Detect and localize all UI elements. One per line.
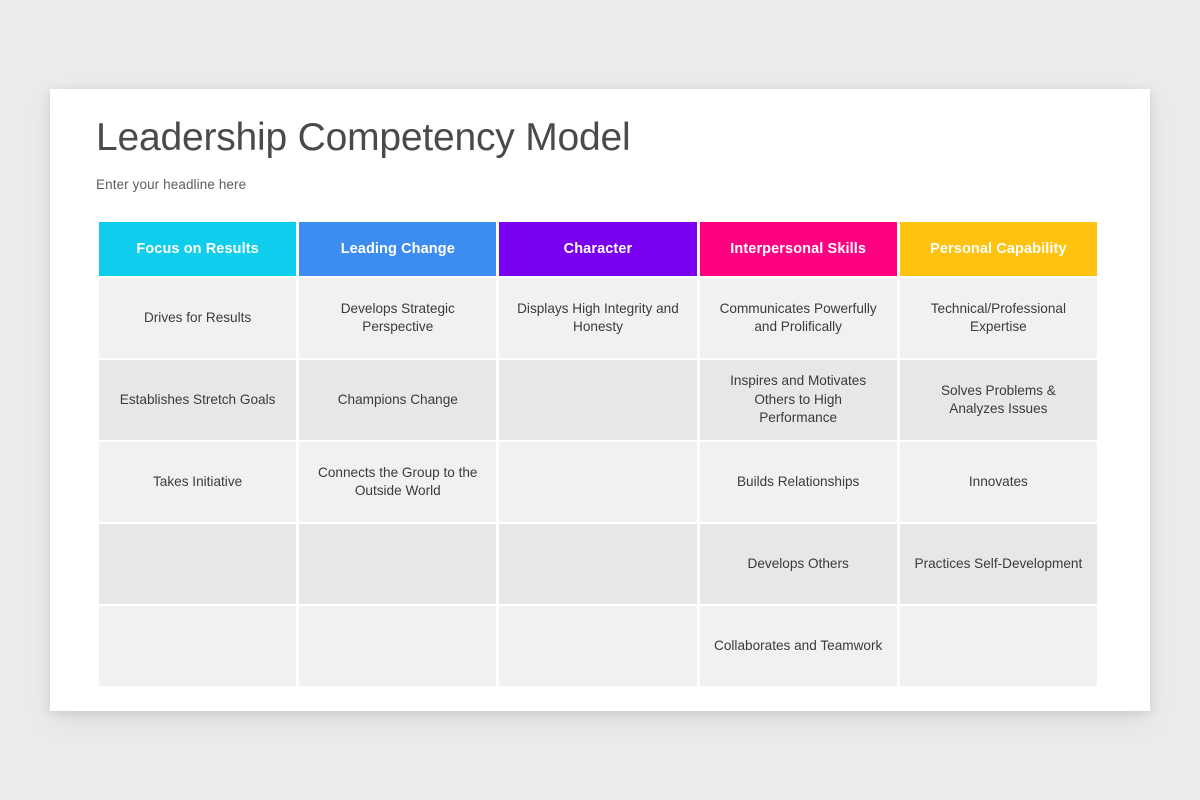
table-cell[interactable] [499, 524, 696, 604]
table-row: Develops Others Practices Self-Developme… [99, 524, 1097, 604]
column-header-interpersonal-skills[interactable]: Interpersonal Skills [700, 222, 897, 276]
table-cell[interactable] [299, 524, 496, 604]
table-cell[interactable]: Inspires and Motivates Others to High Pe… [700, 360, 897, 440]
table-cell[interactable] [499, 360, 696, 440]
slide-content: Leadership Competency Model Enter your h… [96, 117, 1150, 711]
table-cell[interactable]: Builds Relationships [700, 442, 897, 522]
table-cell[interactable]: Innovates [900, 442, 1097, 522]
table-header-row: Focus on Results Leading Change Characte… [99, 222, 1097, 276]
table-cell[interactable]: Develops Strategic Perspective [299, 278, 496, 358]
competency-table: Focus on Results Leading Change Characte… [96, 220, 1100, 688]
table-cell[interactable] [499, 606, 696, 686]
table-cell[interactable]: Drives for Results [99, 278, 296, 358]
table-cell[interactable]: Communicates Powerfully and Prolifically [700, 278, 897, 358]
table-cell[interactable]: Displays High Integrity and Honesty [499, 278, 696, 358]
table-cell[interactable]: Connects the Group to the Outside World [299, 442, 496, 522]
column-header-leading-change[interactable]: Leading Change [299, 222, 496, 276]
table-row: Collaborates and Teamwork [99, 606, 1097, 686]
slide-card: Leadership Competency Model Enter your h… [50, 89, 1150, 711]
table-cell[interactable] [499, 442, 696, 522]
table-body: Drives for Results Develops Strategic Pe… [99, 278, 1097, 686]
column-header-character[interactable]: Character [499, 222, 696, 276]
table-cell[interactable]: Establishes Stretch Goals [99, 360, 296, 440]
table-cell[interactable]: Collaborates and Teamwork [700, 606, 897, 686]
table-cell[interactable]: Technical/Professional Expertise [900, 278, 1097, 358]
table-cell[interactable]: Solves Problems & Analyzes Issues [900, 360, 1097, 440]
table-cell[interactable]: Practices Self-Development [900, 524, 1097, 604]
table-cell[interactable] [299, 606, 496, 686]
table-cell[interactable]: Champions Change [299, 360, 496, 440]
table-cell[interactable]: Develops Others [700, 524, 897, 604]
table-header: Focus on Results Leading Change Characte… [99, 222, 1097, 276]
table-cell[interactable] [900, 606, 1097, 686]
table-row: Establishes Stretch Goals Champions Chan… [99, 360, 1097, 440]
column-header-personal-capability[interactable]: Personal Capability [900, 222, 1097, 276]
table-row: Takes Initiative Connects the Group to t… [99, 442, 1097, 522]
headline-placeholder: Enter your headline here [96, 177, 1150, 192]
table-cell[interactable] [99, 524, 296, 604]
table-row: Drives for Results Develops Strategic Pe… [99, 278, 1097, 358]
page-title: Leadership Competency Model [96, 117, 1150, 160]
table-cell[interactable] [99, 606, 296, 686]
column-header-focus-on-results[interactable]: Focus on Results [99, 222, 296, 276]
table-cell[interactable]: Takes Initiative [99, 442, 296, 522]
